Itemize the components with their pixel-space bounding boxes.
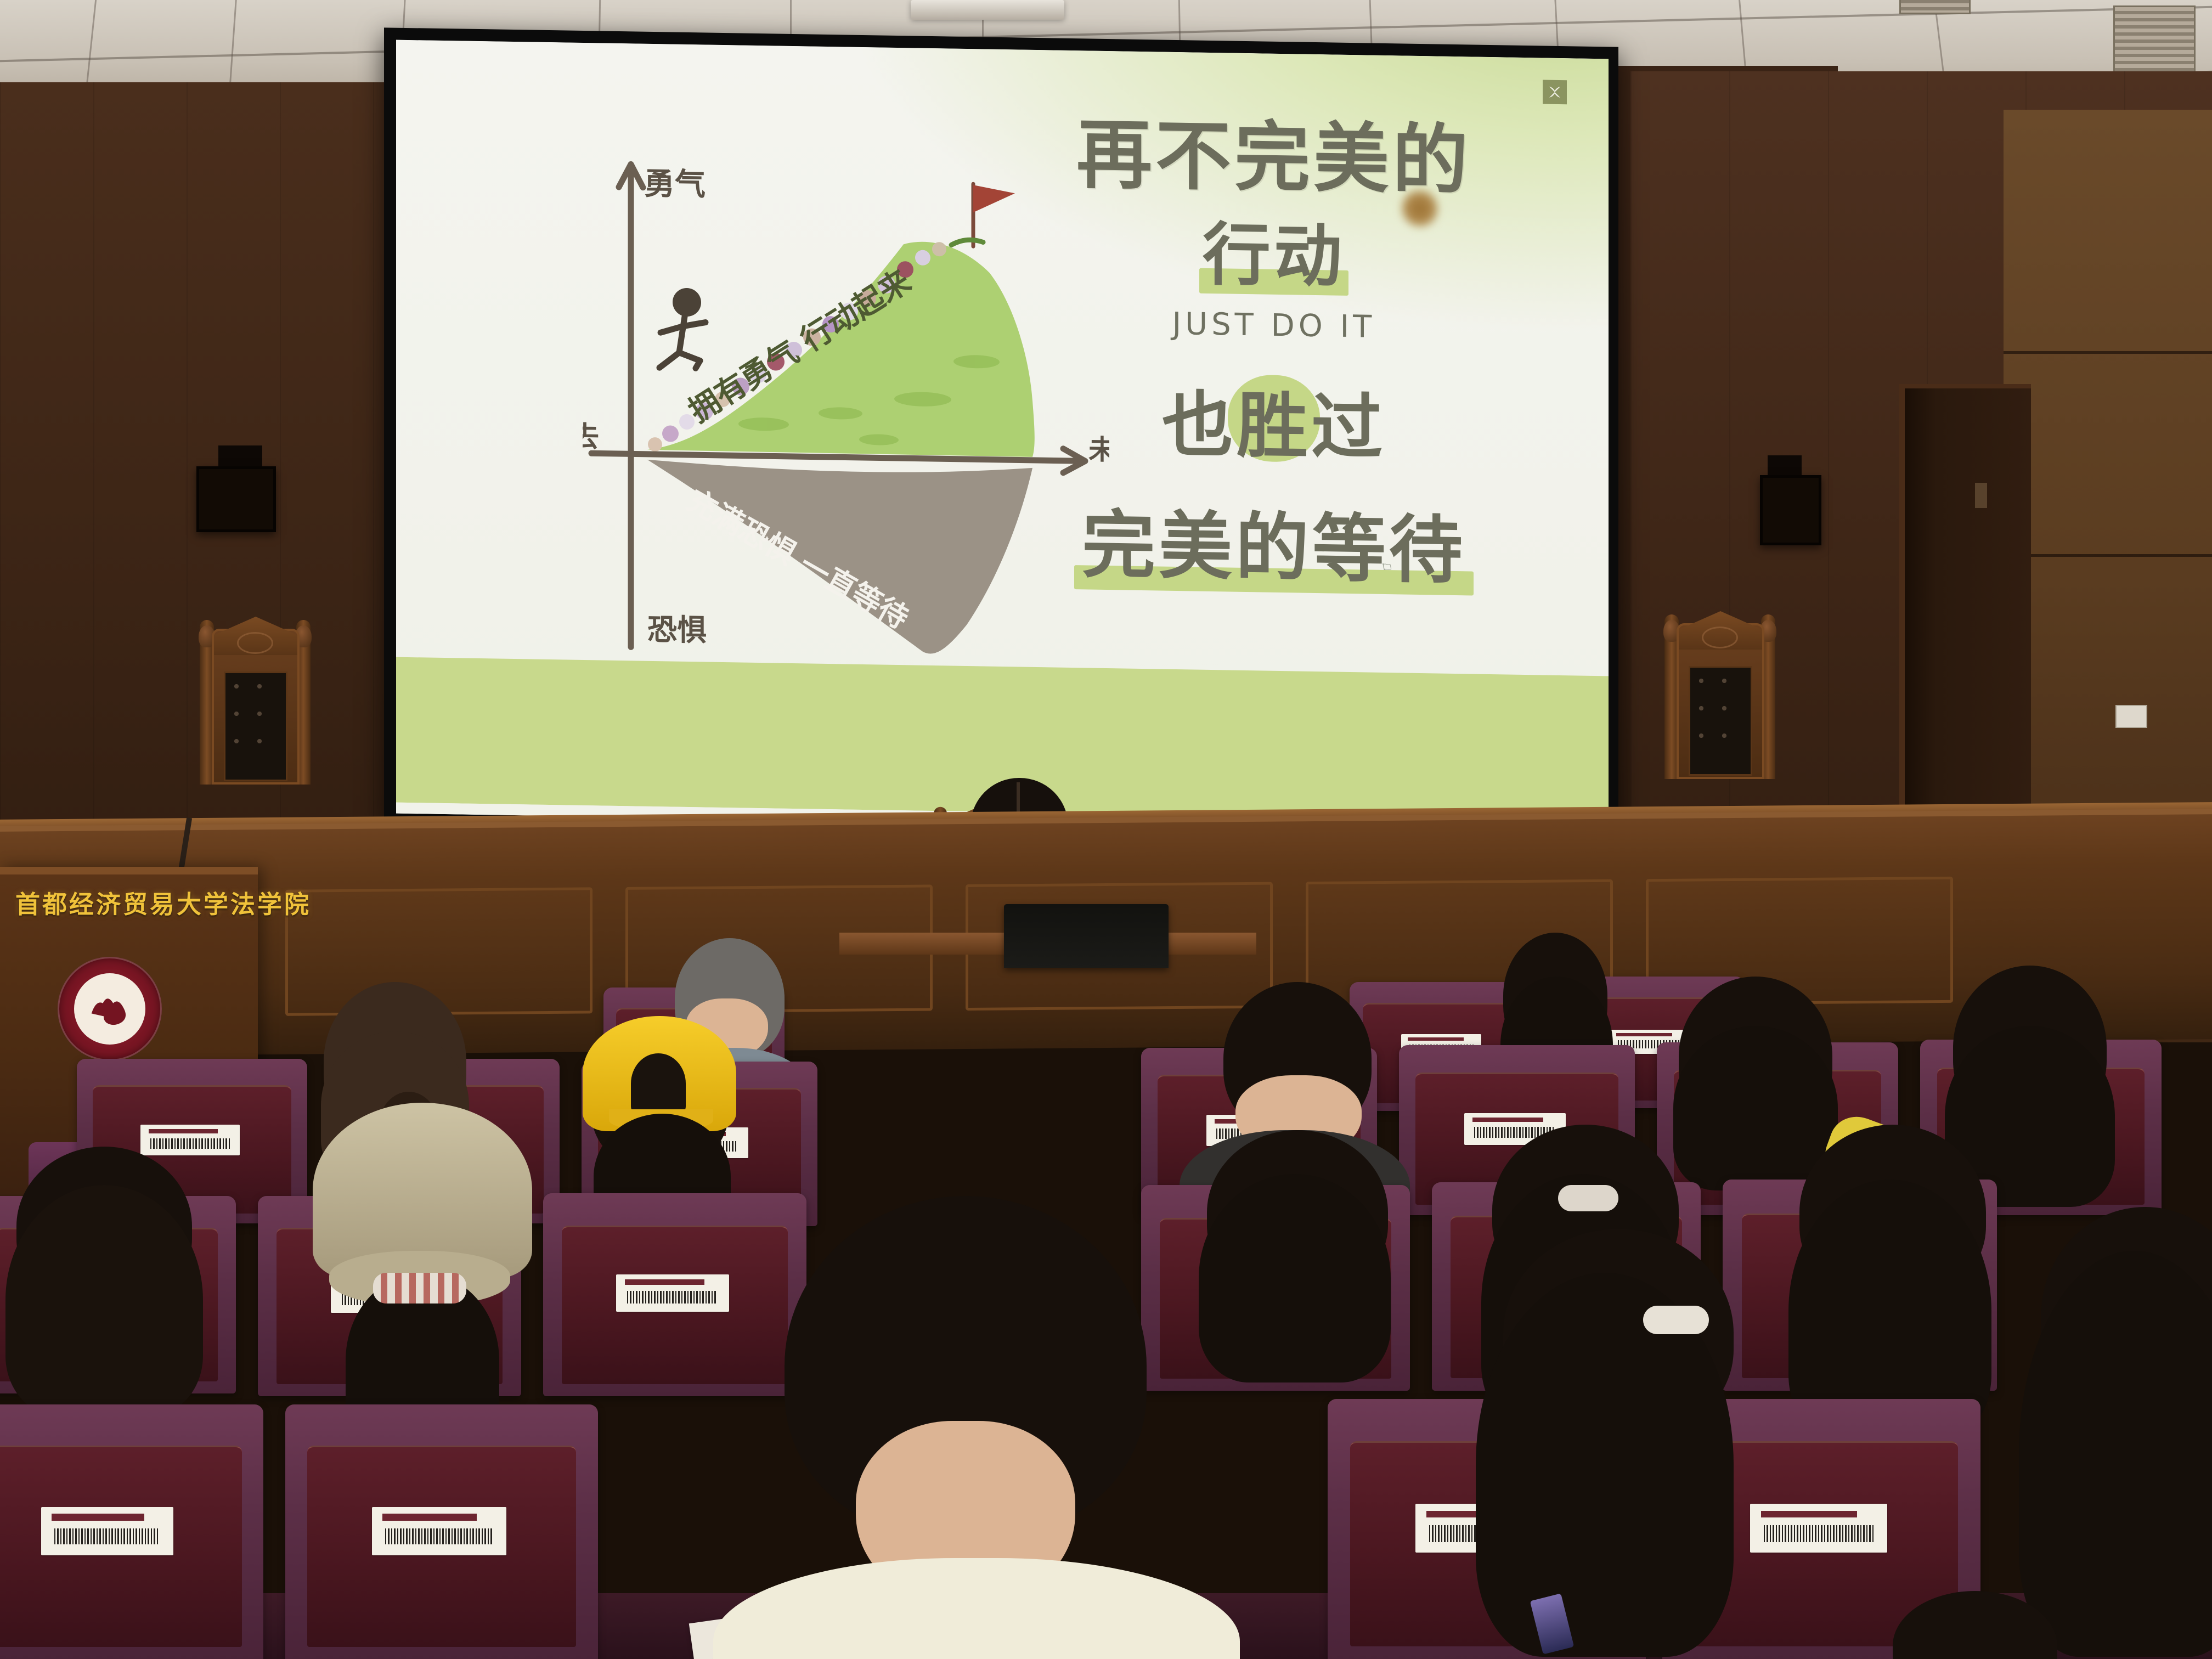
seat-asset-tag [372,1507,506,1555]
seat-asset-tag [140,1125,240,1155]
headline-line-4-wrap: 完美的等待 [1082,485,1466,597]
seat-back [0,1446,242,1647]
four-petal-flower-icon [1547,84,1563,100]
hair-tie-icon [1558,1185,1618,1211]
tag-barcode [54,1528,160,1545]
wall-seam [2004,351,2212,354]
tag-text-line [382,1514,477,1520]
seat-back [307,1446,576,1647]
podium-school-sign: 首都经济贸易大学法学院 [15,884,251,920]
summit-flag-icon [973,184,1015,247]
tag-text-line [149,1129,218,1133]
headline-line-4: 完美的等待 [1082,485,1466,597]
projection-screen: ⚐ [396,40,1609,833]
lecture-hall-photo: ⚐ [0,0,2212,1659]
attendee-hair [1199,1174,1391,1383]
running-stick-figure-icon [659,287,706,368]
tag-text-line [1408,1037,1464,1041]
audience-area [0,966,2212,1659]
table-row[interactable] [0,1404,263,1659]
headline-line-3: 也胜过 [1162,366,1386,473]
tag-barcode [1764,1525,1874,1542]
projection-screen-frame: ⚐ [384,27,1618,843]
hair-tie-icon [1643,1306,1709,1334]
presenter-hair-part [1017,782,1020,814]
headline-subtitle: JUST DO IT [1016,303,1532,347]
axis-label-fear: 恐惧 [647,612,707,648]
seat-back [562,1226,788,1384]
tag-barcode [385,1528,493,1545]
chair-cushion [1689,666,1752,776]
wall-seam [2004,554,2212,557]
seat-asset-tag [616,1274,729,1312]
ceiling-light [911,0,1064,20]
speaker-bracket [218,445,262,467]
headline-line-3-wrap: 也胜过 [1162,366,1386,473]
tag-text-line [1472,1118,1543,1122]
tag-text-line [625,1279,704,1285]
judge-chair-right [1662,598,1778,779]
seat-asset-tag [41,1507,173,1555]
headline-line-1: 再不完美的 [1016,115,1532,201]
tag-text-line [1616,1033,1672,1036]
wall-speaker-left [196,466,276,532]
presenter-laptop[interactable] [1004,904,1169,968]
axis-label-past: 过去 [583,420,599,454]
seat-asset-tag [1750,1504,1887,1553]
headline-line-2-wrap: 行动 [1203,199,1345,300]
hair-tie-icon [373,1273,466,1304]
cap-opening [631,1053,686,1114]
summit-arrow [951,240,983,246]
ceiling-air-vent [1899,0,1971,14]
light-switch-panel[interactable] [2115,705,2147,728]
tag-text-line [52,1514,144,1520]
speaker-bracket [1768,455,1802,476]
tag-text-line [1761,1511,1857,1517]
slide-corner-badge [1543,80,1567,105]
wall-speaker-right [1760,475,1821,545]
axis-label-courage: 勇气 [644,166,706,203]
judge-chair-left [198,603,313,785]
chair-medallion [237,632,273,654]
door-plate [1975,483,1987,508]
headline-line-2: 行动 [1203,199,1345,300]
table-row[interactable] [285,1404,598,1659]
chair-cushion [224,672,287,781]
tag-barcode [627,1291,718,1304]
tag-barcode [150,1138,229,1149]
chair-medallion [1702,627,1738,648]
slide-headline-block: 再不完美的 行动 JUST DO IT 也胜过 完美的等待 [1016,115,1532,599]
attendee-shirt [713,1558,1240,1659]
attendee-hair [5,1185,203,1415]
table-row[interactable] [543,1193,806,1396]
presentation-slide: ⚐ [396,40,1609,833]
